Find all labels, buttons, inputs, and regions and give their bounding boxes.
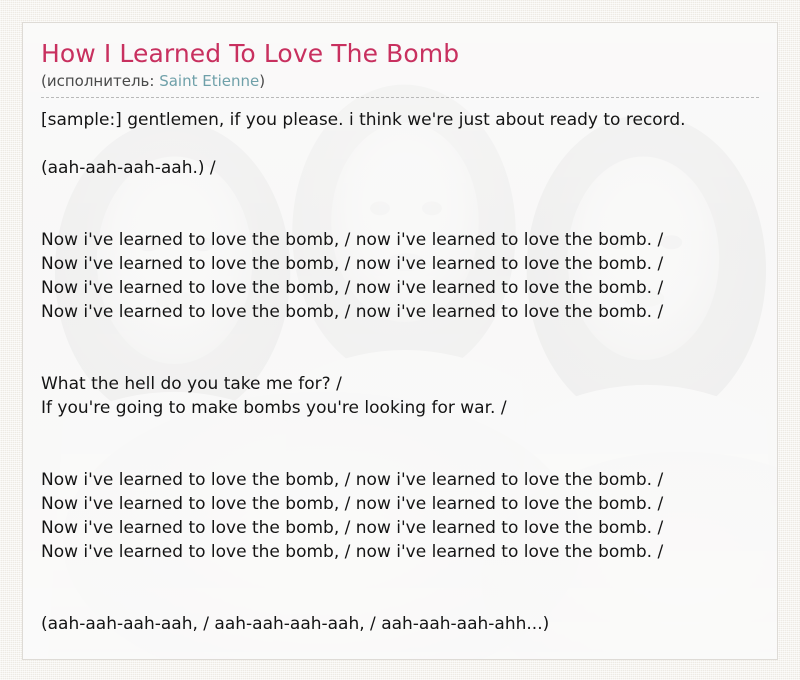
lyric-line-blank [41, 564, 759, 588]
content-inner: How I Learned To Love The Bomb (исполнит… [23, 23, 777, 636]
artist-suffix-label: ) [259, 72, 265, 90]
lyric-line: Now i've learned to love the bomb, / now… [41, 228, 759, 252]
artist-link[interactable]: Saint Etienne [159, 72, 259, 90]
lyric-line: Now i've learned to love the bomb, / now… [41, 276, 759, 300]
lyric-line: Now i've learned to love the bomb, / now… [41, 516, 759, 540]
lyric-line: (aah-aah-aah-aah.) / [41, 156, 759, 180]
lyric-line: What the hell do you take me for? / [41, 372, 759, 396]
page-frame: How I Learned To Love The Bomb (исполнит… [0, 0, 800, 680]
lyric-line: (aah-aah-aah-aah, / aah-aah-aah-aah, / a… [41, 612, 759, 636]
artist-prefix-label: (исполнитель: [41, 72, 159, 90]
lyric-line-blank [41, 324, 759, 348]
lyric-line: If you're going to make bombs you're loo… [41, 396, 759, 420]
lyric-line-blank [41, 348, 759, 372]
page-title: How I Learned To Love The Bomb [41, 39, 759, 69]
lyric-line-blank [41, 420, 759, 444]
lyric-line-blank [41, 588, 759, 612]
lyric-line: Now i've learned to love the bomb, / now… [41, 492, 759, 516]
lyric-line: Now i've learned to love the bomb, / now… [41, 252, 759, 276]
lyric-line-blank [41, 444, 759, 468]
lyrics-content-panel: How I Learned To Love The Bomb (исполнит… [22, 22, 778, 660]
lyric-line: Now i've learned to love the bomb, / now… [41, 300, 759, 324]
lyric-line: [sample:] gentlemen, if you please. i th… [41, 108, 759, 132]
lyric-line: Now i've learned to love the bomb, / now… [41, 468, 759, 492]
lyric-line-blank [41, 132, 759, 156]
artist-line: (исполнитель: Saint Etienne) [41, 72, 759, 98]
lyric-line-blank [41, 180, 759, 204]
lyric-line-blank [41, 204, 759, 228]
lyrics-text: [sample:] gentlemen, if you please. i th… [41, 108, 759, 636]
lyric-line: Now i've learned to love the bomb, / now… [41, 540, 759, 564]
